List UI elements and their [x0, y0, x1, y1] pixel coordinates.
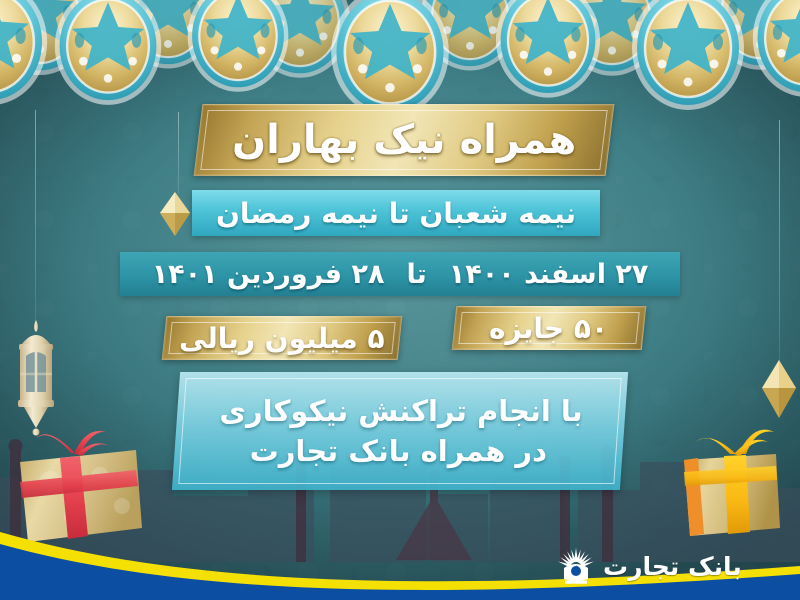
- date-range-text: ۲۷ اسفند ۱۴۰۰ تا ۲۸ فروردین ۱۴۰۱: [152, 259, 649, 290]
- message-line-1: با انجام تراکنش نیکوکاری: [220, 393, 583, 429]
- hanging-mandala-ornaments: [0, 0, 800, 120]
- ramadan-lantern: [8, 318, 64, 436]
- subtitle-diamond-svg: [160, 192, 190, 236]
- tejarat-bank-emblem: [556, 546, 596, 586]
- campaign-message-panel: با انجام تراکنش نیکوکاری در همراه بانک ت…: [172, 372, 628, 490]
- prize-count-plate: ۵۰ جایزه: [452, 306, 647, 350]
- gold-diamond-pendant: [762, 360, 796, 418]
- emblem-svg: [556, 546, 596, 586]
- prize-value-plate: ۵ میلیون ریالی: [162, 316, 403, 360]
- bank-name-text: بانک تجارت: [603, 554, 742, 579]
- prize-count-text: ۵۰ جایزه: [489, 312, 608, 345]
- subtitle-text: نیمه شعبان تا نیمه رمضان: [216, 197, 576, 230]
- prize-value-text: ۵ میلیون ریالی: [179, 322, 385, 355]
- subtitle-band: نیمه شعبان تا نیمه رمضان: [192, 190, 600, 236]
- lantern-svg: [8, 318, 64, 436]
- bank-logo[interactable]: بانک تجارت: [556, 546, 742, 586]
- subtitle-band-diamond-ornament: [160, 192, 190, 236]
- message-line-2: در همراه بانک تجارت: [250, 433, 547, 469]
- page-title: همراه نیک بهاران: [232, 117, 576, 163]
- date-from: ۲۷ اسفند ۱۴۰۰: [449, 259, 649, 290]
- date-separator: تا: [406, 259, 426, 290]
- poster-title-plate: همراه نیک بهاران: [194, 104, 615, 176]
- date-to: ۲۸ فروردین ۱۴۰۱: [152, 259, 385, 290]
- pendant-svg: [762, 360, 796, 418]
- pendant-hanging-string: [779, 120, 780, 364]
- promo-poster: همراه نیک بهاران نیمه شعبان تا نیمه رمضا…: [0, 0, 800, 600]
- date-range-band: ۲۷ اسفند ۱۴۰۰ تا ۲۸ فروردین ۱۴۰۱: [120, 252, 680, 296]
- lantern-hanging-string: [35, 110, 36, 322]
- diamond-hanging-string: [178, 112, 179, 194]
